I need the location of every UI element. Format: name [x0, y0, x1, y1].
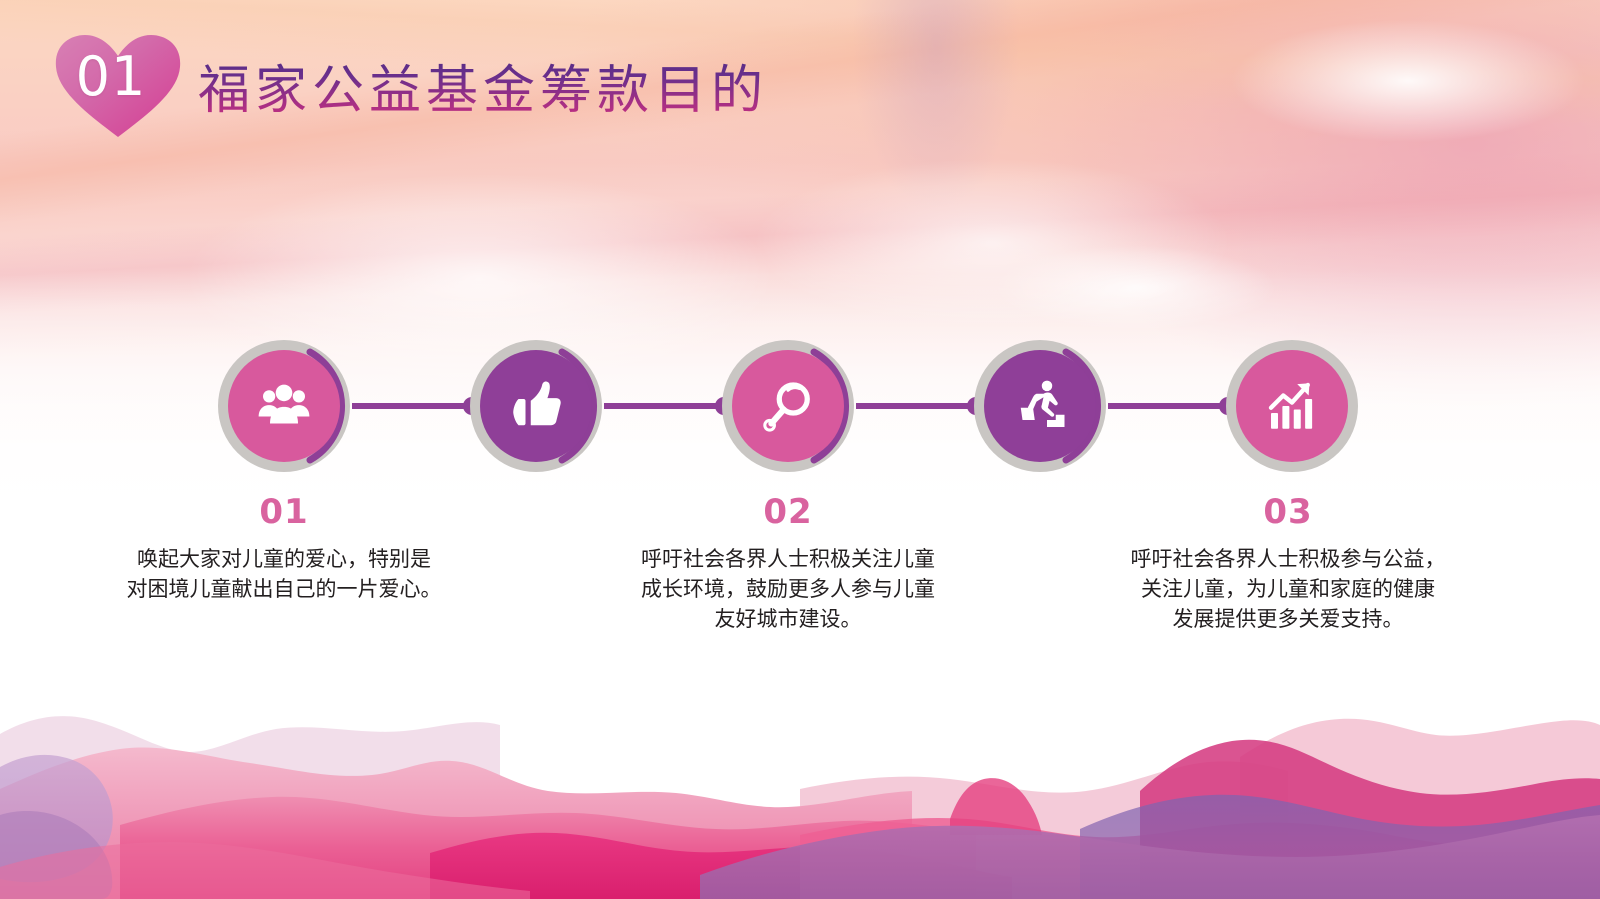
watercolor-mountains [0, 639, 1600, 899]
connector-2-3 [604, 403, 726, 409]
caption-text: 唤起大家对儿童的爱心，特别是 对困境儿童献出自己的一片爱心。 [114, 545, 454, 605]
slide-header: 01 福家公益基金筹款目的 [52, 30, 768, 140]
process-node-2[interactable] [470, 340, 602, 472]
caption-text: 呼吁社会各界人士积极关注儿童 成长环境，鼓励更多人参与儿童 友好城市建设。 [618, 545, 958, 634]
bar-chart-growth-icon [1236, 350, 1348, 462]
caption-text: 呼吁社会各界人士积极参与公益， 关注儿童，为儿童和家庭的健康 发展提供更多关爱支… [1118, 545, 1458, 634]
slide-canvas: 01 福家公益基金筹款目的 [0, 0, 1600, 899]
heart-badge: 01 [52, 29, 184, 141]
caption-block-1: 01 唤起大家对儿童的爱心，特别是 对困境儿童献出自己的一片爱心。 [114, 495, 454, 605]
connector-3-4 [856, 403, 978, 409]
person-stairs-icon [984, 350, 1096, 462]
caption-number: 02 [618, 495, 958, 529]
process-node-3[interactable] [722, 340, 854, 472]
caption-block-2: 02 呼吁社会各界人士积极关注儿童 成长环境，鼓励更多人参与儿童 友好城市建设。 [618, 495, 958, 634]
caption-number: 03 [1118, 495, 1458, 529]
thumbs-up-icon [480, 350, 592, 462]
caption-number: 01 [114, 495, 454, 529]
heart-badge-number: 01 [52, 45, 170, 108]
process-node-4[interactable] [974, 340, 1106, 472]
magnifier-icon [732, 350, 844, 462]
people-group-icon [228, 350, 340, 462]
caption-block-3: 03 呼吁社会各界人士积极参与公益， 关注儿童，为儿童和家庭的健康 发展提供更多… [1118, 495, 1458, 634]
process-chain [0, 340, 1600, 472]
connector-1-2 [352, 403, 474, 409]
connector-4-5 [1108, 403, 1230, 409]
process-node-1[interactable] [218, 340, 350, 472]
page-title: 福家公益基金筹款目的 [198, 48, 768, 123]
process-node-5[interactable] [1226, 340, 1358, 472]
